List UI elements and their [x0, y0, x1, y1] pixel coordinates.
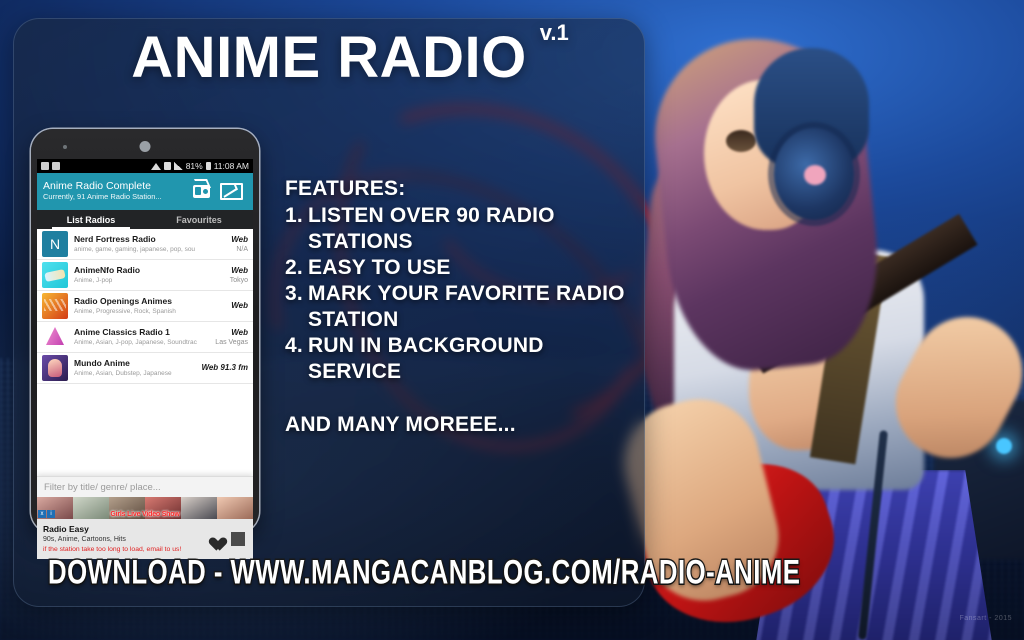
- station-type-4: Web: [215, 328, 248, 338]
- front-camera-icon: [140, 141, 151, 152]
- status-left-icons: [41, 162, 60, 170]
- app-bar-text: Anime Radio Complete Currently, 91 Anime…: [43, 180, 193, 202]
- tab-bar: List Radios Favourites: [37, 210, 253, 229]
- station-place-2: Tokyo: [230, 276, 248, 285]
- feature-number-4: 4.: [285, 333, 308, 385]
- station-meta-1: Web N/A: [229, 235, 248, 254]
- page-title: ANIME RADIOv.1: [131, 24, 526, 91]
- title-area: ANIME RADIOv.1: [13, 24, 645, 96]
- mail-icon[interactable]: [220, 183, 243, 200]
- antenna-icon: [194, 179, 211, 188]
- status-clock: 11:08 AM: [214, 161, 249, 171]
- station-row-3[interactable]: Radio Openings Animes Anime, Progressive…: [37, 291, 253, 322]
- artwork-watermark: Fansart - 2015: [959, 615, 1012, 622]
- station-genres-5: Anime, Asian, Dubstep, Japanese: [74, 369, 193, 378]
- feature-text-1: LISTEN OVER 90 RADIO STATIONS: [308, 203, 625, 255]
- station-type-3: Web: [231, 301, 248, 311]
- station-genres-1: anime, game, gaming, japanese, pop, sou: [74, 245, 223, 254]
- station-info-5: Mundo Anime Anime, Asian, Dubstep, Japan…: [74, 358, 193, 378]
- station-row-2[interactable]: AnimeNfo Radio Anime, J-pop Web Tokyo: [37, 260, 253, 291]
- phone-chin: [31, 501, 259, 533]
- favorite-heart-button[interactable]: [206, 532, 222, 547]
- station-name-4: Anime Classics Radio 1: [74, 327, 207, 338]
- animenfo-thumb: [42, 262, 68, 288]
- feature-text-2: EASY TO USE: [308, 255, 625, 281]
- battery-icon: [206, 162, 211, 170]
- radio-station-list[interactable]: N Nerd Fortress Radio anime, game, gamin…: [37, 229, 253, 384]
- station-place-1: N/A: [231, 245, 248, 254]
- android-status-bar: 81% 11:08 AM: [37, 159, 253, 173]
- filter-input[interactable]: Filter by title/ genre/ place...: [44, 482, 161, 493]
- station-genres-4: Anime, Asian, J-pop, Japanese, Soundtrac: [74, 338, 207, 347]
- features-more: AND MANY MOREEE...: [285, 412, 625, 438]
- feature-item-2: 2. EASY TO USE: [285, 255, 625, 281]
- feature-number-1: 1.: [285, 203, 308, 255]
- station-type-2: Web: [230, 266, 248, 276]
- letter-n-thumb: N: [42, 231, 68, 257]
- station-meta-3: Web: [229, 301, 248, 311]
- app-title: Anime Radio Complete: [43, 180, 193, 192]
- feature-number-2: 2.: [285, 255, 308, 281]
- headphone-emblem-icon: [804, 165, 826, 185]
- tab-list-radios[interactable]: List Radios: [37, 210, 145, 229]
- battery-percent: 81%: [186, 161, 203, 171]
- station-name-5: Mundo Anime: [74, 358, 193, 369]
- station-row-1[interactable]: N Nerd Fortress Radio anime, game, gamin…: [37, 229, 253, 260]
- station-place-4: Las Vegas: [215, 338, 248, 347]
- app-bar-actions: [193, 183, 247, 200]
- station-meta-5: Web 91.3 fm: [199, 363, 248, 373]
- feature-item-4: 4. RUN IN BACKGROUND SERVICE: [285, 333, 625, 385]
- status-right-icons: 81% 11:08 AM: [151, 161, 249, 171]
- signal-icon: [174, 162, 183, 170]
- nfc-icon: [164, 162, 171, 170]
- classics-thumb: [42, 324, 68, 350]
- phone-screen: 81% 11:08 AM Anime Radio Complete Curren…: [37, 159, 253, 497]
- anime-girl-guitarist: [604, 0, 1024, 640]
- features-heading: FEATURES:: [285, 176, 625, 202]
- feature-item-3: 3. MARK YOUR FAVORITE RADIO STATION: [285, 281, 625, 333]
- feature-item-1: 1. LISTEN OVER 90 RADIO STATIONS: [285, 203, 625, 255]
- sd-card-icon: [41, 162, 49, 170]
- eye: [726, 130, 756, 152]
- gallery-icon: [52, 162, 60, 170]
- station-row-5[interactable]: Mundo Anime Anime, Asian, Dubstep, Japan…: [37, 353, 253, 384]
- amp-led-icon: [996, 438, 1012, 454]
- station-info-1: Nerd Fortress Radio anime, game, gaming,…: [74, 234, 223, 254]
- station-meta-4: Web Las Vegas: [213, 328, 248, 347]
- filter-bar[interactable]: Filter by title/ genre/ place...: [37, 476, 253, 497]
- phone-mockup: 81% 11:08 AM Anime Radio Complete Curren…: [31, 129, 259, 533]
- feature-text-4: RUN IN BACKGROUND SERVICE: [308, 333, 625, 385]
- station-genres-3: Anime, Progressive, Rock, Spanish: [74, 307, 223, 316]
- station-row-4[interactable]: Anime Classics Radio 1 Anime, Asian, J-p…: [37, 322, 253, 353]
- tab-favourites[interactable]: Favourites: [145, 210, 253, 229]
- sensor-icon: [63, 145, 67, 149]
- station-genres-2: Anime, J-pop: [74, 276, 222, 285]
- station-meta-2: Web Tokyo: [228, 266, 248, 285]
- station-name-2: AnimeNfo Radio: [74, 265, 222, 276]
- feature-text-3: MARK YOUR FAVORITE RADIO STATION: [308, 281, 625, 333]
- stop-button[interactable]: [231, 532, 245, 546]
- mundo-thumb: [42, 355, 68, 381]
- promo-banner: Fansart - 2015 ANIME RADIOv.1 FEATURES: …: [0, 0, 1024, 640]
- station-type-5: Web 91.3 fm: [201, 363, 248, 373]
- station-type-1: Web: [231, 235, 248, 245]
- title-text: ANIME RADIO: [131, 25, 526, 90]
- wifi-icon: [151, 163, 161, 170]
- now-playing-genres: 90s, Anime, Cartoons, Hits: [43, 535, 206, 545]
- app-bar: Anime Radio Complete Currently, 91 Anime…: [37, 173, 253, 210]
- station-name-3: Radio Openings Animes: [74, 296, 223, 307]
- station-info-3: Radio Openings Animes Anime, Progressive…: [74, 296, 223, 316]
- station-name-1: Nerd Fortress Radio: [74, 234, 223, 245]
- feature-number-3: 3.: [285, 281, 308, 333]
- download-url[interactable]: DOWNLOAD - WWW.MANGACANBLOG.COM/RADIO-AN…: [48, 553, 800, 592]
- features-list: FEATURES: 1. LISTEN OVER 90 RADIO STATIO…: [285, 176, 625, 459]
- openings-thumb: [42, 293, 68, 319]
- version-badge: v.1: [540, 20, 569, 46]
- app-subtitle: Currently, 91 Anime Radio Station...: [43, 192, 193, 202]
- player-buttons: [206, 532, 247, 547]
- station-info-2: AnimeNfo Radio Anime, J-pop: [74, 265, 222, 285]
- station-info-4: Anime Classics Radio 1 Anime, Asian, J-p…: [74, 327, 207, 347]
- radio-icon[interactable]: [193, 185, 210, 198]
